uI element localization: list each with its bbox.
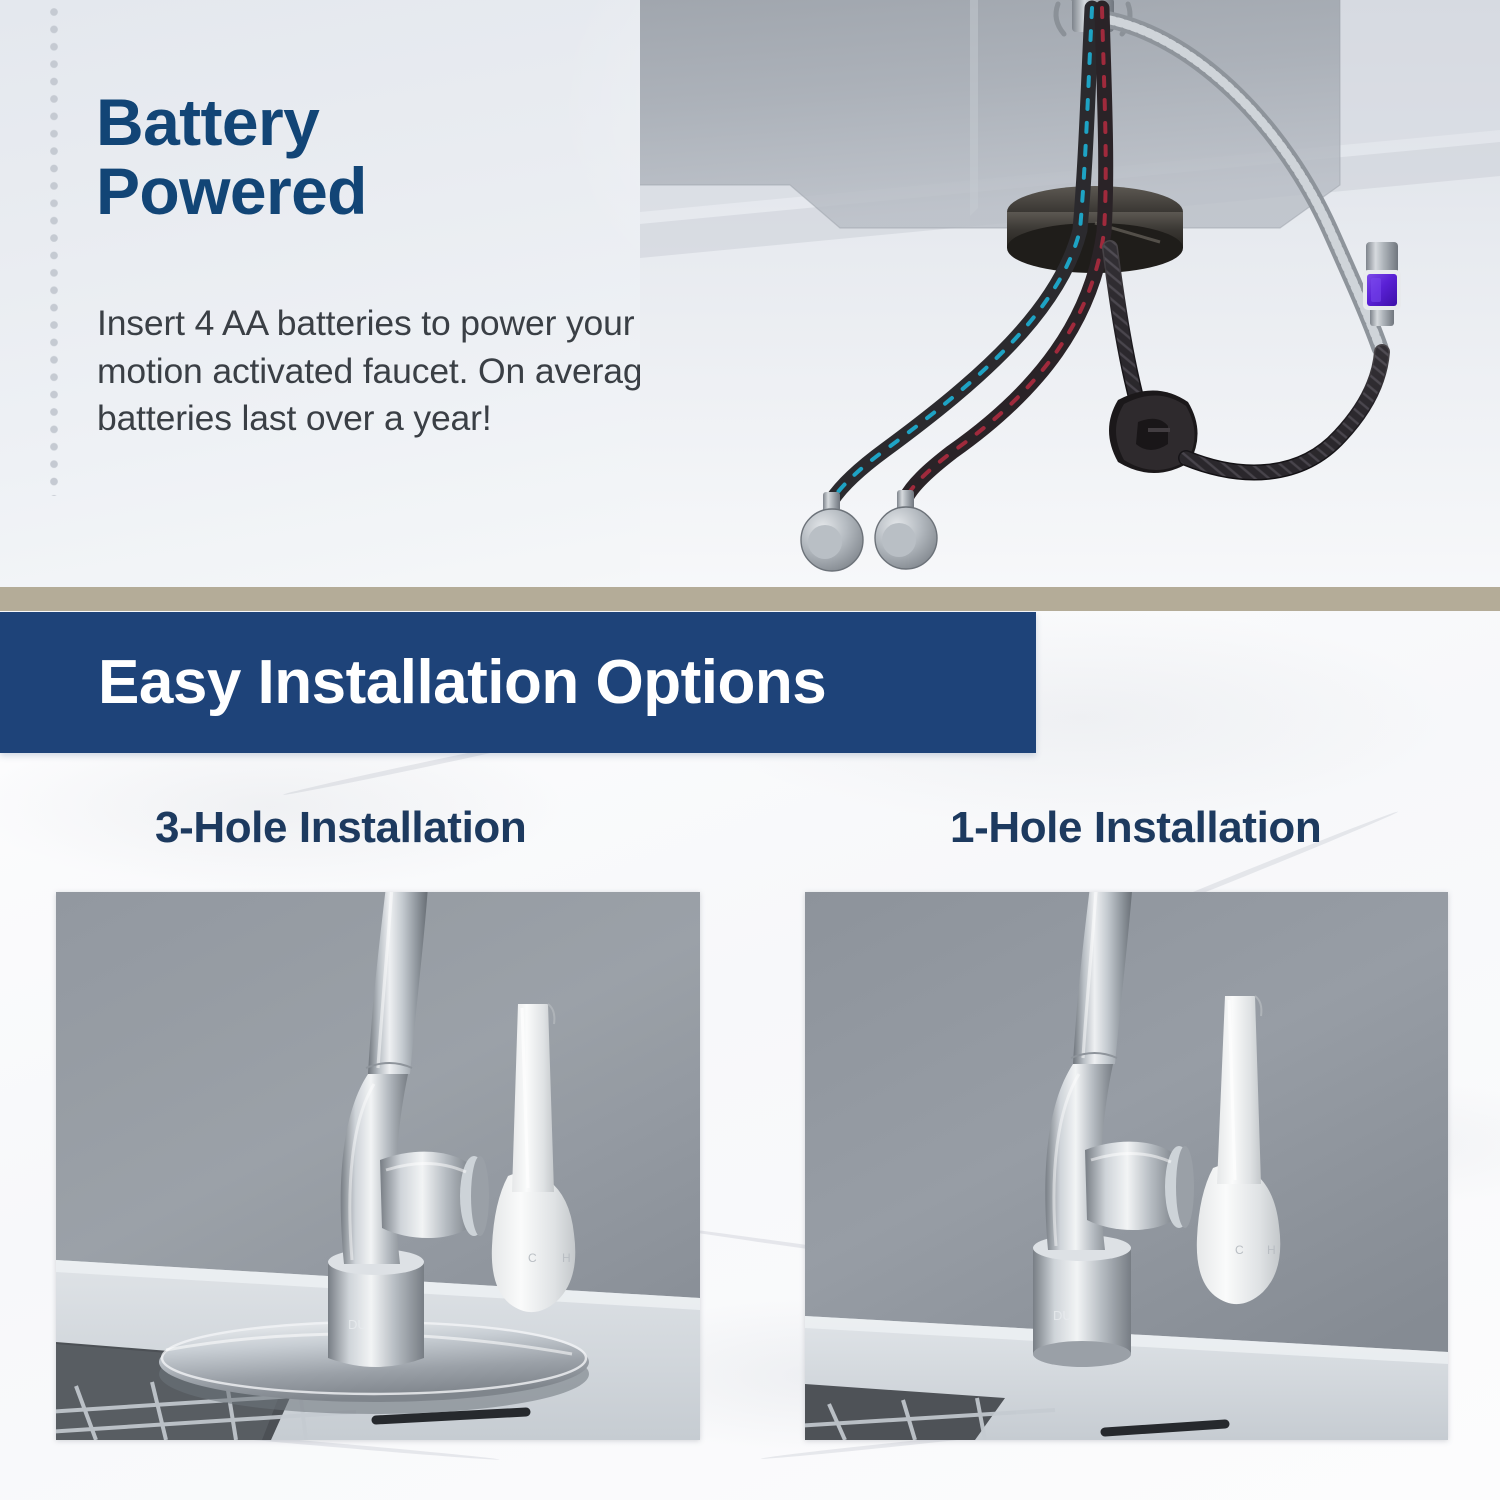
easy-installation-banner: Easy Installation Options [0, 612, 1036, 753]
under-sink-hose-assembly-illustration [640, 0, 1500, 588]
battery-body-text: Insert 4 AA batteries to power your moti… [97, 300, 682, 443]
battery-title-line-2: Powered [96, 157, 696, 226]
svg-text:C: C [528, 1251, 537, 1265]
dotted-rule-decoration [46, 4, 62, 496]
heading-1-hole-installation: 1-Hole Installation [950, 803, 1321, 853]
faucet-single-hole-photo: DU C H [805, 892, 1448, 1440]
battery-heading: Battery Powered [96, 88, 696, 225]
heading-3-hole-installation: 3-Hole Installation [155, 803, 526, 853]
installation-options-section: Easy Installation Options 3-Hole Install… [0, 611, 1500, 1500]
faucet-with-deck-plate-photo: DU C H [56, 892, 700, 1440]
svg-text:H: H [1267, 1243, 1276, 1257]
banner-title: Easy Installation Options [98, 647, 826, 718]
svg-text:H: H [562, 1251, 571, 1265]
battery-title-line-1: Battery [96, 88, 696, 157]
svg-text:DU: DU [1053, 1308, 1072, 1323]
svg-text:C: C [1235, 1243, 1244, 1257]
tan-divider-strip [0, 587, 1500, 611]
svg-text:DU: DU [348, 1317, 367, 1332]
battery-powered-section: Battery Powered Insert 4 AA batteries to… [0, 0, 1500, 588]
